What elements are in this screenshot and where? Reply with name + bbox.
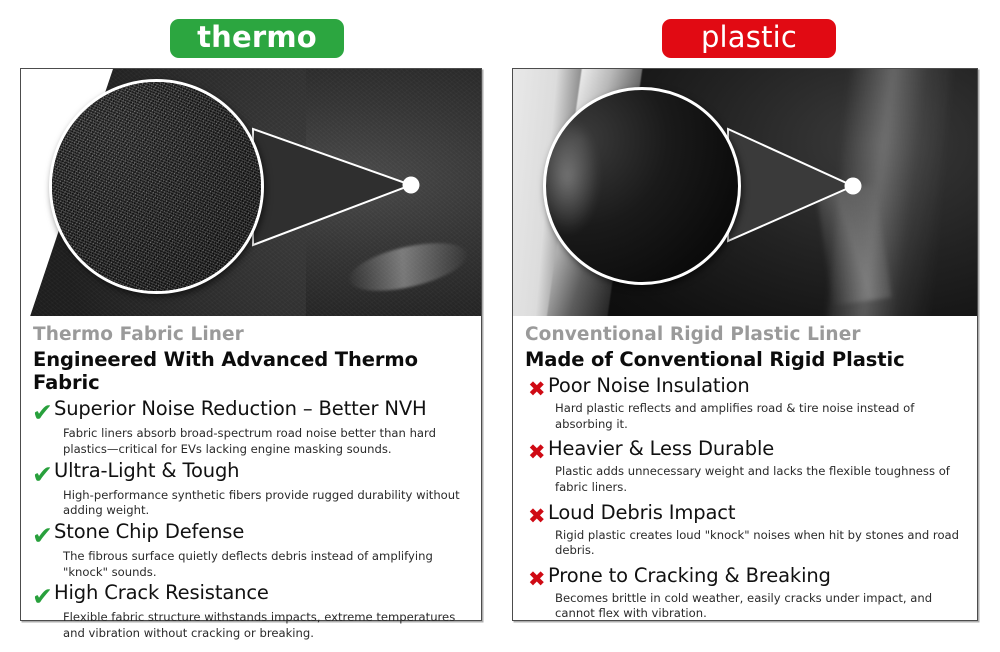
badge-thermo: thermo [170,19,344,58]
feature-title: High Crack Resistance [54,581,269,604]
feature-description: Fabric liners absorb broad-spectrum road… [31,426,469,457]
feature-description: Rigid plastic creates loud "knock" noise… [523,528,965,559]
eyebrow-thermo: Thermo Fabric Liner [33,324,469,347]
eyebrow-plastic: Conventional Rigid Plastic Liner [525,324,965,347]
feature-description: The fibrous surface quietly deflects deb… [31,549,469,580]
list-item: ✖ Poor Noise Insulation Hard plastic ref… [523,374,965,432]
panel-plastic: Conventional Rigid Plastic Liner Made of… [512,68,978,621]
list-item: ✔ High Crack Resistance Flexible fabric … [31,581,469,641]
list-item: ✔ Stone Chip Defense The fibrous surface… [31,520,469,580]
photo-plastic-liner [513,69,977,316]
feature-title: Loud Debris Impact [548,501,735,524]
feature-title: Prone to Cracking & Breaking [548,564,831,587]
check-icon: ✔ [32,462,54,487]
check-icon: ✔ [32,584,54,609]
feature-description: Plastic adds unnecessary weight and lack… [523,464,965,495]
feature-list-plastic: ✖ Poor Noise Insulation Hard plastic ref… [523,374,965,622]
feature-list-thermo: ✔ Superior Noise Reduction – Better NVH … [31,397,469,641]
list-item: ✖ Prone to Cracking & Breaking Becomes b… [523,564,965,622]
content-plastic: Conventional Rigid Plastic Liner Made of… [513,316,977,637]
badge-thermo-label: thermo [197,20,317,54]
cross-icon: ✖ [528,506,548,527]
feature-title: Stone Chip Defense [54,520,244,543]
cross-icon: ✖ [528,442,548,463]
panel-thermo: Thermo Fabric Liner Engineered With Adva… [20,68,482,621]
fabric-fiber-texture [49,79,264,294]
magnifier-lens-fabric [49,79,264,294]
check-icon: ✔ [32,523,54,548]
list-item: ✖ Heavier & Less Durable Plastic adds un… [523,437,965,495]
plastic-gloss-highlight [543,117,600,236]
check-icon: ✔ [32,400,54,425]
photo-thermo-liner [21,69,481,316]
comparison-infographic: thermo plastic Thermo Fabric Liner Engin… [0,0,1000,647]
headline-thermo: Engineered With Advanced Thermo Fabric [33,348,469,395]
feature-description: High-performance synthetic fibers provid… [31,488,469,519]
list-item: ✔ Superior Noise Reduction – Better NVH … [31,397,469,457]
magnifier-lens-plastic [543,87,741,285]
feature-description: Flexible fabric structure withstands imp… [31,610,469,641]
feature-description: Becomes brittle in cold weather, easily … [523,591,965,622]
list-item: ✖ Loud Debris Impact Rigid plastic creat… [523,501,965,559]
list-item: ✔ Ultra-Light & Tough High-performance s… [31,459,469,519]
feature-title: Poor Noise Insulation [548,374,750,397]
badge-plastic-label: plastic [701,20,797,54]
badge-plastic: plastic [662,19,836,58]
cross-icon: ✖ [528,569,548,590]
feature-title: Superior Noise Reduction – Better NVH [54,397,427,420]
feature-title: Heavier & Less Durable [548,437,774,460]
headline-plastic: Made of Conventional Rigid Plastic [525,348,965,371]
feature-description: Hard plastic reflects and amplifies road… [523,401,965,432]
content-thermo: Thermo Fabric Liner Engineered With Adva… [21,316,481,652]
feature-title: Ultra-Light & Tough [54,459,239,482]
cross-icon: ✖ [528,379,548,400]
